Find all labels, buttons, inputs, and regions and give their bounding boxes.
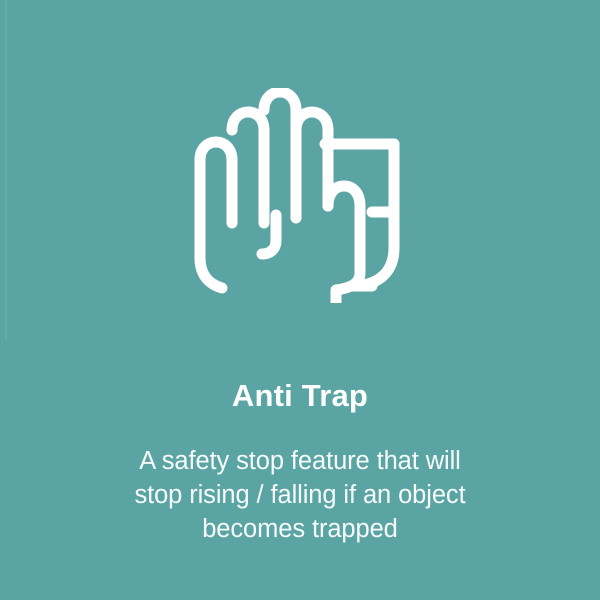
- feature-description: A safety stop feature that will stop ris…: [60, 444, 540, 546]
- hand-outer-left-edge: [200, 160, 222, 288]
- feature-description-line-3: becomes trapped: [60, 512, 540, 546]
- page-title: Anti Trap: [0, 378, 600, 414]
- anti-trap-feature-card: Anti Trap A safety stop feature that wil…: [0, 0, 600, 600]
- anti-trap-hand-icon: [186, 88, 408, 303]
- edge-seam-decoration: [5, 0, 7, 340]
- anti-trap-hand-icon-graphic: [186, 88, 408, 303]
- feature-description-line-2: stop rising / falling if an object: [60, 478, 540, 512]
- feature-description-line-1: A safety stop feature that will: [60, 444, 540, 478]
